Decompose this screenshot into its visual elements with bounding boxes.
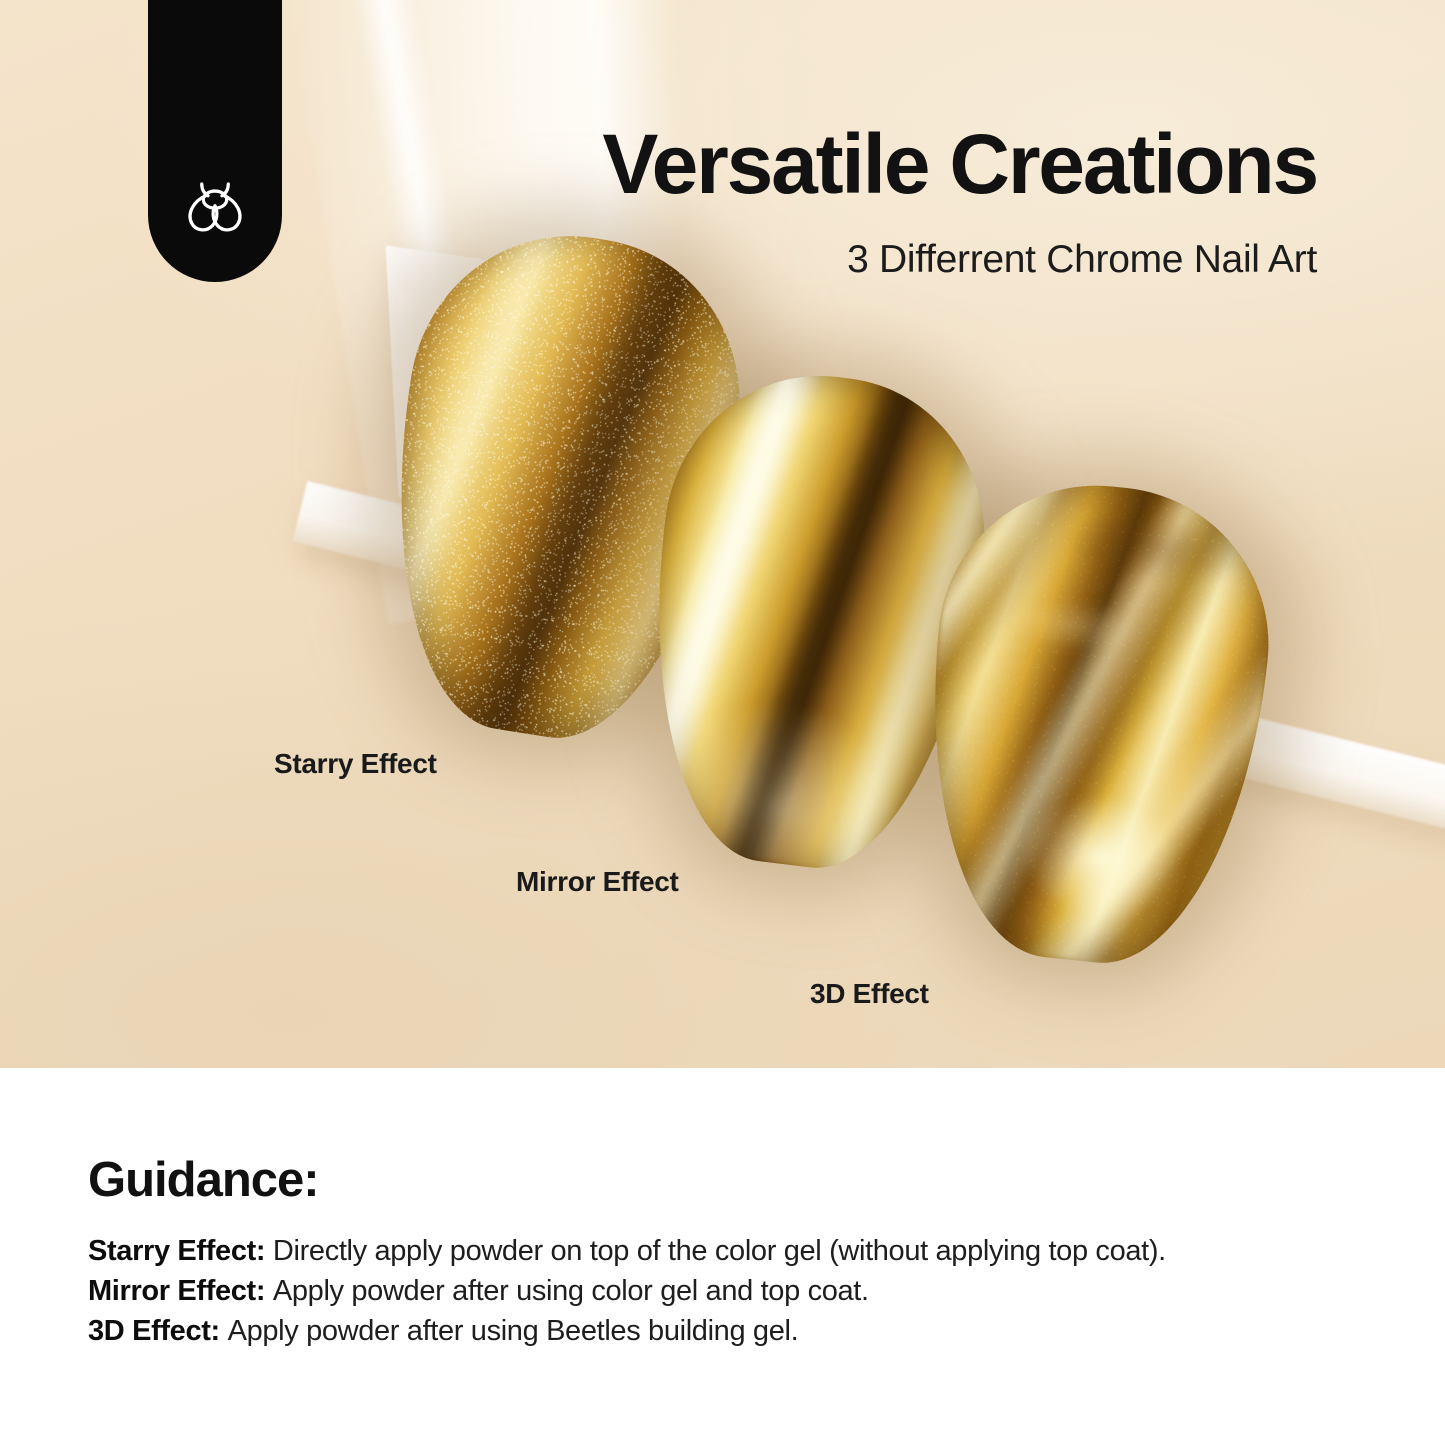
- guidance-desc: Apply powder after using Beetles buildin…: [228, 1315, 799, 1347]
- guidance-desc: Apply powder after using color gel and t…: [273, 1275, 869, 1307]
- nail-caption-starry: Starry Effect: [274, 748, 437, 780]
- page-subtitle: 3 Differrent Chrome Nail Art: [847, 240, 1317, 279]
- beetle-icon: [176, 170, 254, 248]
- nail-sample-3d: [906, 470, 1284, 977]
- page-title: Versatile Creations: [602, 122, 1317, 206]
- nail-surface: [906, 470, 1284, 977]
- guidance-item: Mirror Effect: Apply powder after using …: [88, 1271, 1388, 1311]
- brand-logo-tab: [148, 0, 282, 282]
- guidance-panel: Guidance: Starry Effect: Directly apply …: [0, 1068, 1445, 1445]
- guidance-term: Starry Effect:: [88, 1235, 273, 1267]
- nail-caption-3d: 3D Effect: [810, 978, 929, 1010]
- guidance-list: Starry Effect: Directly apply powder on …: [88, 1231, 1388, 1351]
- nail-caption-mirror: Mirror Effect: [516, 866, 679, 898]
- product-photo-panel: Versatile Creations 3 Differrent Chrome …: [0, 0, 1445, 1068]
- guidance-heading: Guidance:: [88, 1156, 319, 1205]
- guidance-term: Mirror Effect:: [88, 1275, 273, 1307]
- metallic-grain-texture: [906, 470, 1284, 977]
- guidance-item: 3D Effect: Apply powder after using Beet…: [88, 1311, 1388, 1351]
- guidance-item: Starry Effect: Directly apply powder on …: [88, 1231, 1388, 1271]
- guidance-desc: Directly apply powder on top of the colo…: [273, 1235, 1166, 1267]
- guidance-term: 3D Effect:: [88, 1315, 228, 1347]
